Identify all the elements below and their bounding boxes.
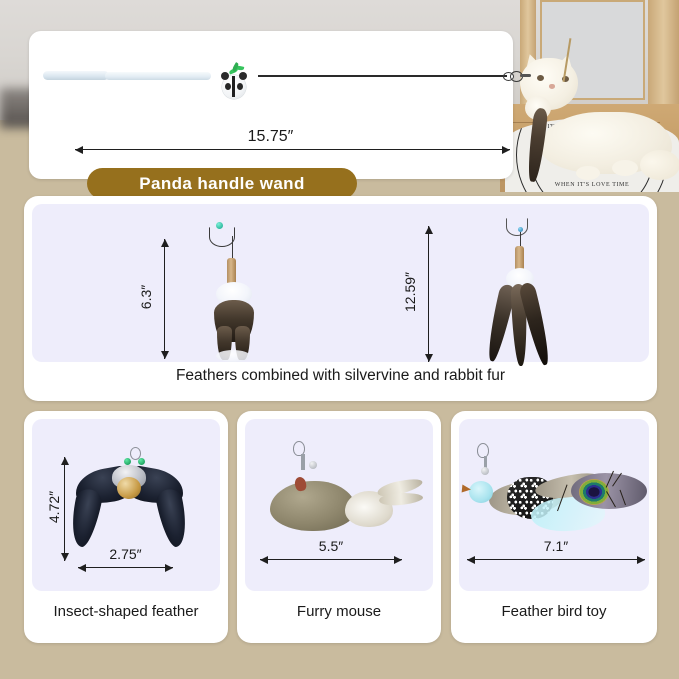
bird-length-arrow [467, 559, 645, 560]
feather-attachments-caption: Feathers combined with silvervine and ra… [24, 367, 657, 385]
insect-width-label: 2.75″ [78, 546, 173, 562]
feather-long-dimension-label: 12.59″ [402, 259, 418, 325]
bird-beak-icon [462, 485, 472, 494]
insect-height-arrow [64, 457, 65, 561]
panda-head-icon [222, 75, 246, 99]
clip-bar [301, 454, 305, 470]
panda-handle-wand-badge[interactable]: Panda handle wand [87, 168, 357, 199]
feather-long-dimension-arrow [428, 226, 429, 362]
cat-nose [549, 84, 555, 89]
wand-shaft [105, 72, 211, 80]
rabbit-fur-tip [216, 350, 250, 362]
feather-attachments-card: 6.3″ 12.59″ Feathers combined with silve… [24, 196, 657, 401]
feather-small-dimension-label: 6.3″ [138, 267, 154, 327]
wand-dimension-arrow [75, 149, 510, 150]
insect-wing-tail-right [154, 487, 191, 549]
feather-bird-toy-card: 7.1″ Feather bird toy [451, 411, 657, 643]
bird-length-label: 7.1″ [467, 538, 645, 554]
furry-mouse-caption: Furry mouse [237, 603, 441, 620]
feather-bird-toy-caption: Feather bird toy [451, 603, 657, 620]
product-infographic: IT'S ALWAYS A GOOD TIME WHEN IT'S LOVE T… [0, 0, 679, 679]
wand-rod [258, 75, 507, 77]
feather-attachments-stage: 6.3″ 12.59″ [32, 204, 649, 362]
mouse-body [270, 481, 356, 531]
cat-paw [612, 160, 638, 176]
panda-ear [221, 72, 229, 80]
cat-eye [537, 75, 544, 81]
insect-feather-stage: 4.72″ 2.75″ [32, 419, 220, 591]
peacock-eye [579, 479, 609, 505]
cat-paw [576, 166, 600, 180]
insect-width-arrow [78, 567, 173, 568]
insect-feather-caption: Insect-shaped feather [24, 603, 228, 620]
feather-small-dimension-arrow [164, 239, 165, 359]
insect-height-label: 4.72″ [46, 474, 62, 540]
panda-eye [237, 83, 243, 90]
hanging-cord [232, 236, 233, 260]
wand-dimension-label: 15.75″ [29, 128, 512, 146]
swivel-clip-icon [503, 69, 529, 83]
swivel-icon [481, 467, 489, 475]
bird-head [469, 481, 493, 503]
insect-hanger [110, 447, 162, 465]
insect-feather-card: 4.72″ 2.75″ Insect-shaped feather [24, 411, 228, 643]
mouse-length-arrow [260, 559, 402, 560]
long-feather-rabbit-fur-tassel [462, 218, 582, 366]
silvervine-rabbit-fur-feather-small [197, 222, 267, 362]
lobster-clip-icon [477, 443, 489, 458]
furry-mouse-stage: 5.5″ [245, 419, 433, 591]
feather-bird-toy-stage: 7.1″ [459, 419, 649, 591]
insect-wing-tail-left [66, 487, 103, 549]
cat-hindleg [640, 150, 679, 180]
mouse-length-label: 5.5″ [260, 538, 402, 554]
wand-handle-grip [43, 71, 109, 80]
panda-eye [225, 83, 231, 90]
furry-mouse-card: 5.5″ Furry mouse [237, 411, 441, 643]
panda-face-stripe [232, 76, 235, 97]
swivel-icon [309, 461, 317, 469]
rug-text-bottom: WHEN IT'S LOVE TIME [555, 182, 630, 188]
green-bead-icon [138, 458, 145, 465]
green-bead-icon [124, 458, 131, 465]
bamboo-leaf-icon [230, 66, 246, 75]
photo-wood-trim-right [648, 0, 679, 120]
insect-bell-icon [117, 477, 141, 499]
hanging-loop [506, 218, 528, 236]
panda-wand-card: 15.75″ Panda handle wand [29, 31, 513, 179]
wand-illustration [29, 31, 513, 111]
